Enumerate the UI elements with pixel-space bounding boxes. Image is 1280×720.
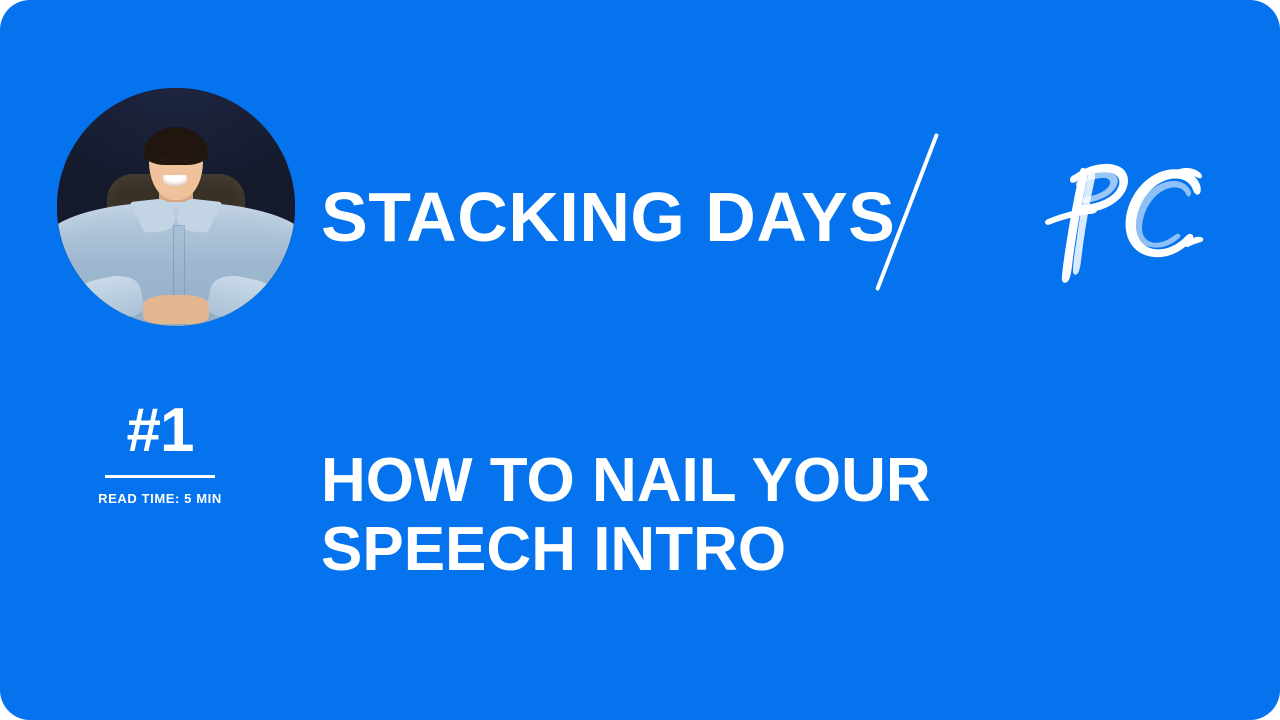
avatar-portrait-image [57,88,295,326]
avatar-smile [163,175,187,185]
slide-card: STACKING DAYS [0,0,1280,720]
brand-title: STACKING DAYS [321,182,895,252]
meta-divider-rule [105,475,215,478]
episode-meta: #1 READ TIME: 5 MIN [60,400,260,506]
avatar-eye-left [160,158,168,162]
read-time-label: READ TIME: 5 MIN [60,491,260,506]
avatar [57,88,295,326]
avatar-clasped-hands [143,295,210,324]
avatar-eye-right [181,158,189,162]
avatar-hair-sides [145,143,208,164]
headline-title: HOW TO NAIL YOUR SPEECH INTRO [321,446,1201,585]
pc-monogram-logo [1030,145,1215,290]
episode-number: #1 [60,400,260,462]
